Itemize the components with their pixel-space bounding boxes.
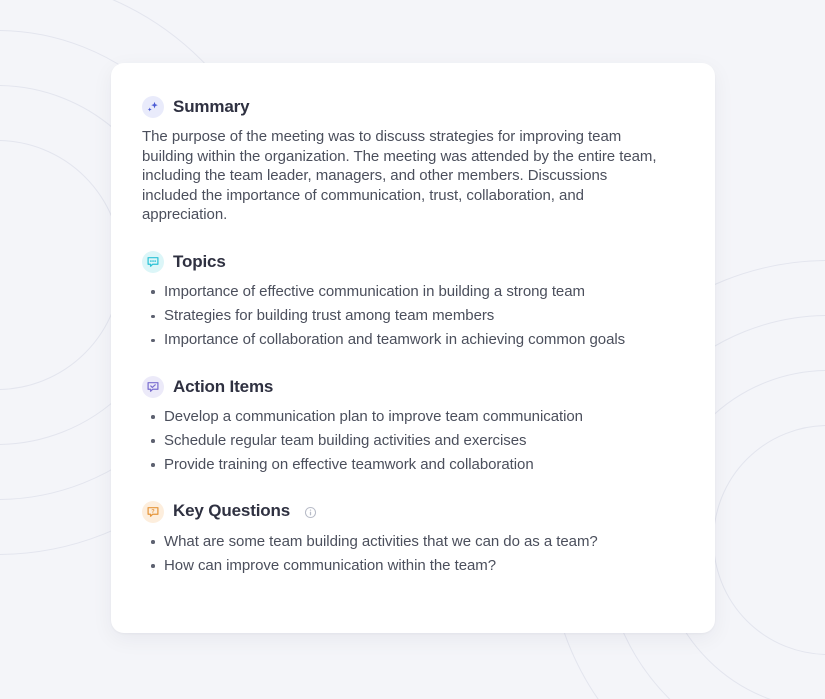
section-topics: Topics Importance of effective communica… (142, 251, 677, 350)
section-action-items-title: Action Items (173, 377, 273, 397)
list-item: Strategies for building trust among team… (142, 306, 672, 326)
meeting-notes-card: Summary The purpose of the meeting was t… (111, 63, 715, 633)
background-ring-left-1 (0, 140, 122, 390)
section-summary-title: Summary (173, 97, 249, 117)
section-topics-header: Topics (142, 251, 677, 273)
list-item: What are some team building activities t… (142, 532, 672, 552)
chat-question-icon: ? (142, 501, 164, 523)
section-key-questions-list: What are some team building activities t… (142, 532, 677, 576)
chat-check-icon (142, 376, 164, 398)
section-action-items-list: Develop a communication plan to improve … (142, 407, 677, 475)
list-item: Importance of effective communication in… (142, 282, 672, 302)
background-ring-right-1 (713, 425, 825, 655)
list-item: How can improve communication within the… (142, 556, 672, 576)
list-item: Importance of collaboration and teamwork… (142, 330, 672, 350)
section-summary: Summary The purpose of the meeting was t… (142, 96, 677, 225)
section-action-items: Action Items Develop a communication pla… (142, 376, 677, 475)
list-item: Provide training on effective teamwork a… (142, 455, 672, 475)
chat-dots-icon (142, 251, 164, 273)
sparkle-icon (142, 96, 164, 118)
list-item: Develop a communication plan to improve … (142, 407, 672, 427)
section-action-items-header: Action Items (142, 376, 677, 398)
section-summary-paragraph: The purpose of the meeting was to discus… (142, 127, 669, 225)
section-key-questions-header: ? Key Questions (142, 501, 677, 523)
section-topics-list: Importance of effective communication in… (142, 282, 677, 350)
section-key-questions: ? Key Questions What are some team build… (142, 501, 677, 576)
section-summary-header: Summary (142, 96, 677, 118)
list-item: Schedule regular team building activitie… (142, 431, 672, 451)
section-topics-title: Topics (173, 252, 226, 272)
section-key-questions-title: Key Questions (173, 501, 290, 521)
info-circle-icon[interactable] (304, 506, 317, 519)
